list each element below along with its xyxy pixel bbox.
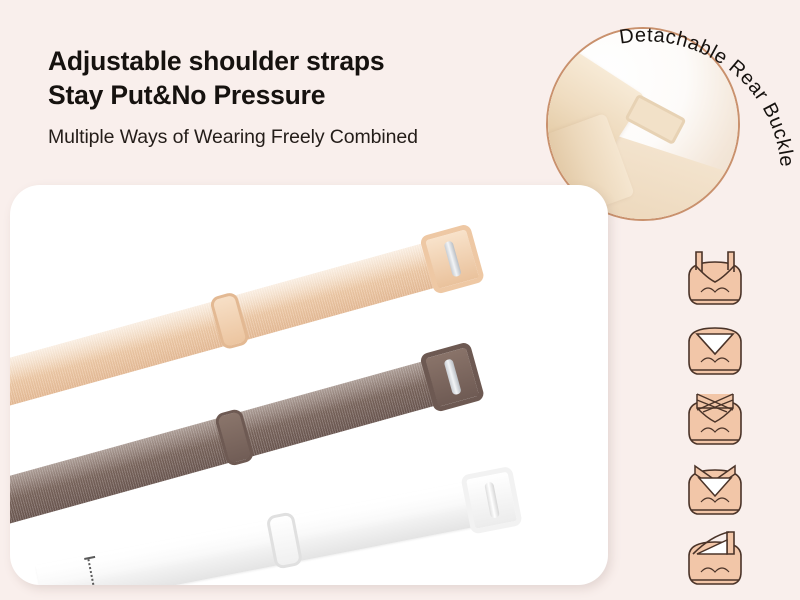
style-x-front-icon [667,458,763,520]
product-photo-card: 0.7in [10,185,608,585]
headline-line-1: Adjustable shoulder straps [48,44,568,78]
style-one-shoulder-icon [667,528,763,590]
style-standard-straps-icon [667,248,763,310]
style-criss-cross-icon [667,388,763,450]
product-photo-inner: 0.7in [10,185,608,585]
wearing-styles-column [655,248,775,592]
style-halter-neck-icon [667,318,763,380]
headline-line-2: Stay Put&No Pressure [48,78,568,112]
brown-hook-metal-bar [444,358,462,395]
promo-banner: Adjustable shoulder straps Stay Put&No P… [0,0,800,600]
beige-hook-metal-bar [444,240,462,277]
white-hook-metal-bar [484,482,500,519]
white-strap-hook [460,466,522,535]
headline-block: Adjustable shoulder straps Stay Put&No P… [48,44,568,150]
headline-subtitle: Multiple Ways of Wearing Freely Combined [48,124,568,150]
